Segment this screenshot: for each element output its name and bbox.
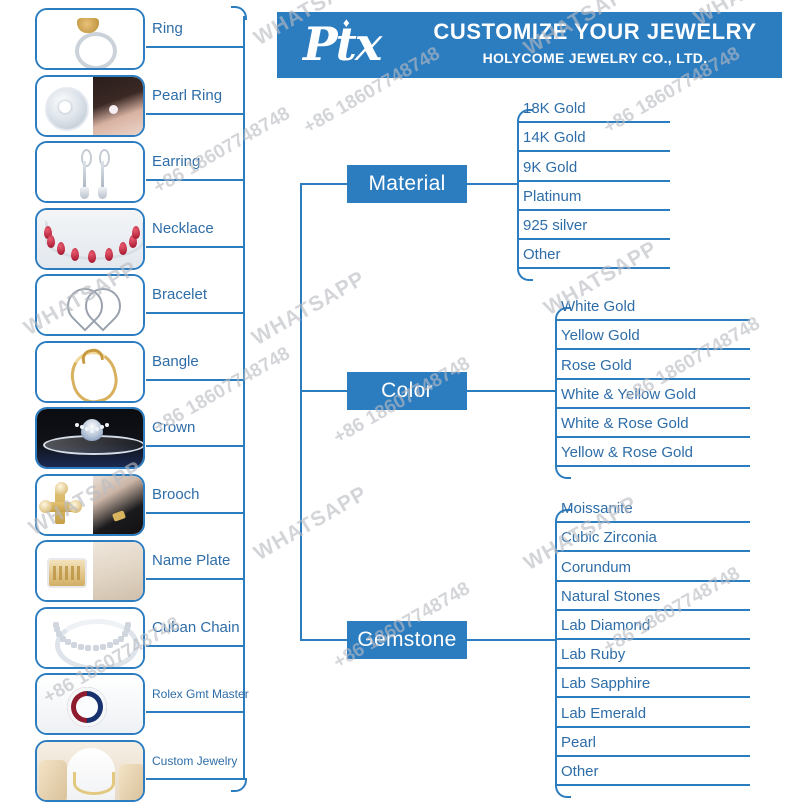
option-underline-material-2 <box>517 150 670 152</box>
option-underline-color-2 <box>555 348 750 350</box>
ruby-drop-5 <box>105 248 113 261</box>
box-to-bracket-color <box>467 390 555 392</box>
product-underline-10 <box>146 645 245 647</box>
prop-right <box>119 764 145 802</box>
product-label-bangle: Bangle <box>152 353 199 370</box>
tiara-spark-1 <box>80 425 84 429</box>
option-underline-color-6 <box>555 465 750 467</box>
trunk-to-material <box>300 183 347 185</box>
category-box-color[interactable]: Color <box>347 372 467 410</box>
prop-left <box>39 760 67 802</box>
option-underline-gemstone-3 <box>555 580 750 582</box>
option-underline-gemstone-1 <box>555 521 750 523</box>
banner-subtitle: HOLYCOME JEWELRY CO., LTD. <box>417 50 773 66</box>
option-material-5[interactable]: 925 silver <box>523 217 587 234</box>
option-gemstone-3[interactable]: Corundum <box>561 559 631 576</box>
trunk-to-gemstone <box>300 639 347 641</box>
header-banner: ♦ Ptx CUSTOMIZE YOUR JEWELRY HOLYCOME JE… <box>277 12 782 78</box>
earring-chain-1 <box>101 161 104 189</box>
earring-drop-1 <box>98 187 107 199</box>
ring-solitaire-champagne-thumb <box>37 10 143 68</box>
product-underline-7 <box>146 445 245 447</box>
option-gemstone-6[interactable]: Lab Ruby <box>561 646 625 663</box>
option-underline-material-6 <box>517 267 670 269</box>
product-underline-5 <box>146 312 245 314</box>
brand-logo: ♦ Ptx <box>299 14 409 76</box>
chain-link-8 <box>93 645 99 651</box>
tiara-spark-2 <box>85 427 89 431</box>
heart-bracelet-thumb <box>37 276 143 334</box>
option-color-2[interactable]: Yellow Gold <box>561 327 640 344</box>
model-photo <box>93 542 145 602</box>
option-underline-color-1 <box>555 319 750 321</box>
ruby-drop-4 <box>88 250 96 263</box>
option-underline-color-4 <box>555 407 750 409</box>
bracket-rail-color <box>555 319 557 465</box>
option-color-4[interactable]: White & Yellow Gold <box>561 386 696 403</box>
category-label-gemstone: Gemstone <box>357 628 456 652</box>
option-color-3[interactable]: Rose Gold <box>561 357 632 374</box>
option-underline-material-1 <box>517 121 670 123</box>
option-color-6[interactable]: Yellow & Rose Gold <box>561 444 693 461</box>
product-thumbnail-bangle[interactable] <box>35 341 145 403</box>
tiara-spark-6 <box>105 423 109 427</box>
product-underline-4 <box>146 246 245 248</box>
product-underline-8 <box>146 512 245 514</box>
watermark-whatsapp-8: WHATSAPP <box>250 482 372 566</box>
tiara-spark-3 <box>90 429 94 433</box>
option-underline-material-3 <box>517 180 670 182</box>
tiara-crown-thumb <box>37 409 143 467</box>
option-gemstone-7[interactable]: Lab Sapphire <box>561 675 650 692</box>
product-label-earring: Earring <box>152 153 200 170</box>
option-material-1[interactable]: 18K Gold <box>523 100 586 117</box>
option-gemstone-9[interactable]: Pearl <box>561 734 596 751</box>
category-trunk <box>300 184 302 640</box>
cuban-chain-thumb <box>37 609 143 667</box>
option-gemstone-2[interactable]: Cubic Zirconia <box>561 529 657 546</box>
option-underline-gemstone-6 <box>555 667 750 669</box>
gemstone-shape <box>77 18 99 33</box>
product-label-brooch: Brooch <box>152 486 200 503</box>
trunk-to-color <box>300 390 347 392</box>
product-label-cuban-chain: Cuban Chain <box>152 619 240 636</box>
chain-link-5 <box>71 642 77 648</box>
chain-link-7 <box>85 645 91 651</box>
gold-bangle-thumb <box>37 343 143 401</box>
name-plate-pendant-thumb <box>37 542 143 600</box>
product-underline-2 <box>146 113 245 115</box>
option-material-2[interactable]: 14K Gold <box>523 129 586 146</box>
banner-title: CUSTOMIZE YOUR JEWELRY <box>417 19 773 45</box>
brooch-medallion-2 <box>55 482 68 495</box>
option-material-6[interactable]: Other <box>523 246 561 263</box>
product-thumbnail-rolex-gmt-master[interactable] <box>35 673 145 735</box>
brooch-medallion-0 <box>39 500 52 513</box>
option-underline-gemstone-2 <box>555 550 750 552</box>
product-label-custom-jewelry: Custom Jewelry <box>152 754 237 768</box>
product-label-pearl-ring: Pearl Ring <box>152 87 222 104</box>
model-photo <box>93 77 145 137</box>
product-label-crown: Crown <box>152 419 195 436</box>
chain-link-9 <box>100 644 106 650</box>
option-underline-gemstone-5 <box>555 638 750 640</box>
product-underline-6 <box>146 379 245 381</box>
option-color-5[interactable]: White & Rose Gold <box>561 415 689 432</box>
bracket-rail-material <box>517 121 519 267</box>
product-thumbnail-earring[interactable] <box>35 141 145 203</box>
cross-brooch-model-thumb <box>37 476 143 534</box>
spine-cap-top <box>231 6 247 20</box>
model-photo <box>93 476 145 536</box>
option-material-4[interactable]: Platinum <box>523 188 581 205</box>
option-underline-gemstone-9 <box>555 755 750 757</box>
product-thumbnail-ring[interactable] <box>35 8 145 70</box>
option-underline-gemstone-4 <box>555 609 750 611</box>
product-label-necklace: Necklace <box>152 220 214 237</box>
option-underline-gemstone-10 <box>555 784 750 786</box>
ruby-drop-8 <box>132 226 140 239</box>
earring-drop-0 <box>80 187 89 199</box>
option-underline-gemstone-7 <box>555 696 750 698</box>
ring-band <box>75 32 117 70</box>
product-label-ring: Ring <box>152 20 183 37</box>
rolex-gmt-bezel-thumb <box>37 675 143 733</box>
option-gemstone-5[interactable]: Lab Diamond <box>561 617 650 634</box>
product-label-bracelet: Bracelet <box>152 286 207 303</box>
chain-link-13 <box>122 631 128 637</box>
watermark-phone-1: +86 18607748748 <box>150 103 294 199</box>
option-material-3[interactable]: 9K Gold <box>523 159 577 176</box>
plate-engraving <box>53 566 81 580</box>
option-underline-color-3 <box>555 378 750 380</box>
product-underline-9 <box>146 578 245 580</box>
watermark-whatsapp-6: WHATSAPP <box>248 267 370 351</box>
tiara-spark-5 <box>100 425 104 429</box>
product-underline-11 <box>146 711 245 713</box>
product-label-name-plate: Name Plate <box>152 552 230 569</box>
product-thumbnail-crown[interactable] <box>35 407 145 469</box>
ruby-drop-3 <box>71 248 79 261</box>
brooch-medallion-1 <box>69 500 82 513</box>
category-label-material: Material <box>368 172 445 196</box>
tiara-spark-0 <box>75 423 79 427</box>
watermark-phone-15: +86 18607748748 <box>600 563 744 659</box>
option-underline-color-5 <box>555 436 750 438</box>
tiara-spark-4 <box>95 427 99 431</box>
option-gemstone-10[interactable]: Other <box>561 763 599 780</box>
option-gemstone-4[interactable]: Natural Stones <box>561 588 660 605</box>
drop-earrings-thumb <box>37 143 143 201</box>
watch-face <box>76 696 98 718</box>
option-gemstone-8[interactable]: Lab Emerald <box>561 705 646 722</box>
product-underline-1 <box>146 46 245 48</box>
ring-on-hand <box>109 105 118 114</box>
ruby-drop-2 <box>57 242 65 255</box>
category-box-gemstone[interactable]: Gemstone <box>347 621 467 659</box>
product-spine <box>243 16 245 778</box>
product-thumbnail-brooch[interactable] <box>35 474 145 536</box>
ruby-necklace-thumb <box>37 210 143 268</box>
product-thumbnail-name-plate[interactable] <box>35 540 145 602</box>
custom-jewelry-display-thumb <box>37 742 143 800</box>
mindmap-canvas: RingPearl RingEarringNecklaceBraceletBan… <box>0 0 800 800</box>
chain-link-15 <box>125 622 131 628</box>
option-underline-gemstone-8 <box>555 726 750 728</box>
displayed-necklace <box>73 772 115 795</box>
earring-chain-0 <box>83 161 86 189</box>
category-label-color: Color <box>381 379 433 403</box>
product-thumbnail-bracelet[interactable] <box>35 274 145 336</box>
category-box-material[interactable]: Material <box>347 165 467 203</box>
box-to-bracket-material <box>467 183 517 185</box>
product-thumbnail-cuban-chain[interactable] <box>35 607 145 669</box>
chain-link-6 <box>78 644 84 650</box>
chain-link-4 <box>65 639 71 645</box>
pearl-ring-model-thumb <box>37 77 143 135</box>
brand-logo-text: Ptx <box>303 18 380 70</box>
product-thumbnail-custom-jewelry[interactable] <box>35 740 145 802</box>
product-thumbnail-necklace[interactable] <box>35 208 145 270</box>
option-color-1[interactable]: White Gold <box>561 298 635 315</box>
bracket-rail-gemstone <box>555 521 557 784</box>
option-underline-material-4 <box>517 209 670 211</box>
product-label-rolex-gmt-master: Rolex Gmt Master <box>152 687 249 701</box>
spine-cap-bottom <box>231 778 247 792</box>
option-underline-material-5 <box>517 238 670 240</box>
product-underline-3 <box>146 179 245 181</box>
center-stone <box>59 101 71 113</box>
product-thumbnail-pearl-ring[interactable] <box>35 75 145 137</box>
box-to-bracket-gemstone <box>467 639 555 641</box>
option-gemstone-1[interactable]: Moissanite <box>561 500 633 517</box>
